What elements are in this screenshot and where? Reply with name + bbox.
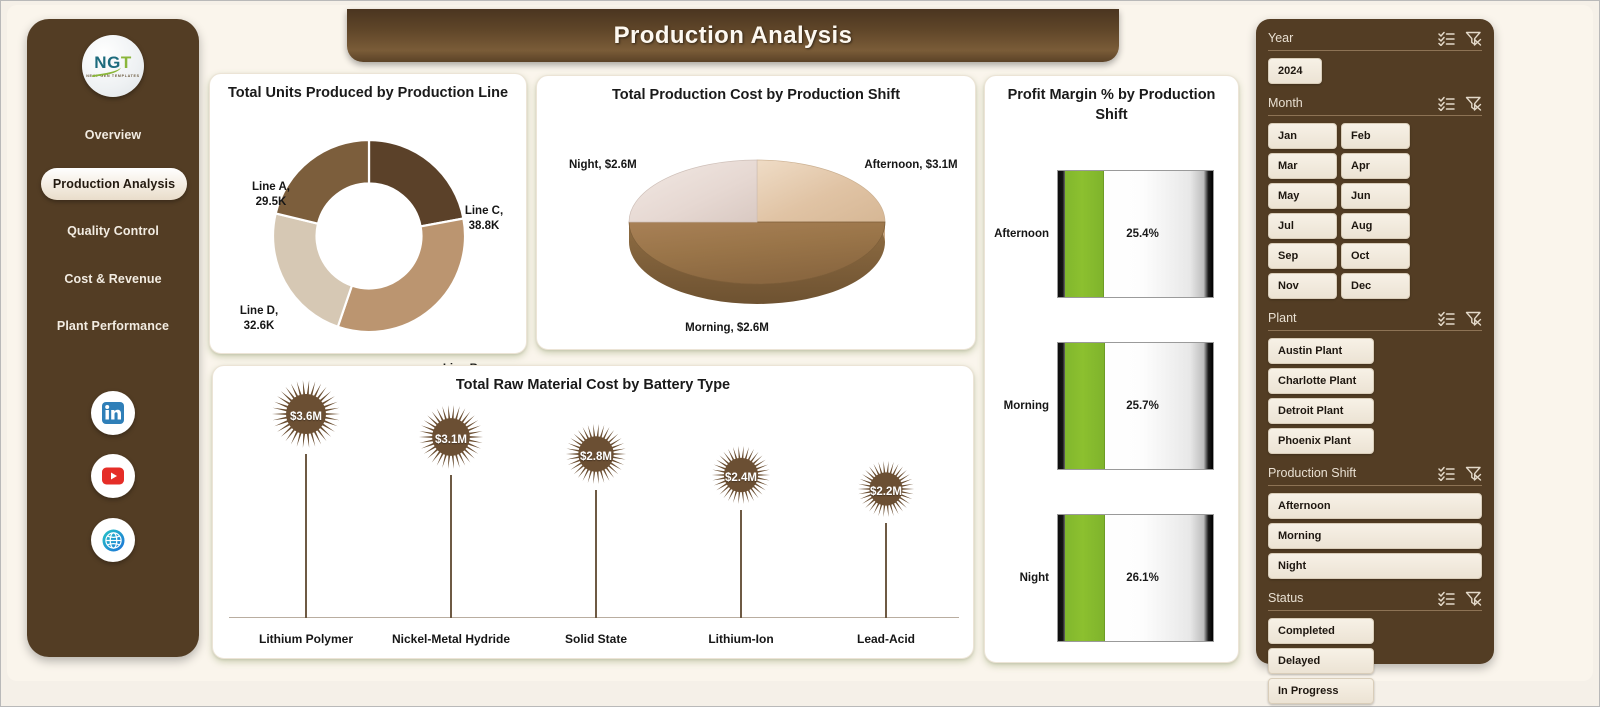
starburst-column-nickel-metal-hydride[interactable]: $3.1M [376,404,526,618]
filter-group-plant: PlantAustin PlantCharlotte PlantDetroit … [1268,309,1482,454]
gauge-fill-afternoon [1065,171,1104,297]
filter-option-production-shift-morning[interactable]: Morning [1268,523,1482,549]
starburst-chart[interactable]: $3.6M $3.1M [213,400,975,658]
multi-select-icon[interactable] [1438,31,1455,46]
filter-option-month-aug[interactable]: Aug [1341,213,1410,239]
starburst-stem-lead-acid [885,523,887,618]
filter-option-month-oct[interactable]: Oct [1341,243,1410,269]
gauge-track-night[interactable]: 26.1% [1057,514,1214,642]
clear-filter-icon[interactable] [1465,96,1482,111]
starburst-value-lead-acid: $2.2M [857,460,915,523]
filter-option-plant-phoenix-plant[interactable]: Phoenix Plant [1268,428,1374,454]
clear-filter-icon[interactable] [1465,466,1482,481]
filter-option-status-delayed[interactable]: Delayed [1268,648,1374,674]
clear-filter-icon[interactable] [1465,591,1482,606]
filter-option-month-dec[interactable]: Dec [1341,273,1410,299]
filter-option-production-shift-afternoon[interactable]: Afternoon [1268,493,1482,519]
filter-group-production-shift: Production ShiftAfternoonMorningNight [1268,464,1482,579]
filter-option-status-in-progress[interactable]: In Progress [1268,678,1374,704]
website-icon[interactable] [91,518,135,562]
filter-option-month-sep[interactable]: Sep [1268,243,1337,269]
filter-option-month-jan[interactable]: Jan [1268,123,1337,149]
card-cost-by-shift: Total Production Cost by Production Shif… [536,75,976,350]
filter-title-year: Year [1268,31,1438,45]
filter-title-status: Status [1268,591,1438,605]
filter-option-plant-austin-plant[interactable]: Austin Plant [1268,338,1374,364]
starburst-marker-lead-acid: $2.2M [857,460,915,523]
youtube-icon[interactable] [91,454,135,498]
filter-items-status: CompletedDelayedIn ProgressOn Hold [1268,618,1482,707]
starburst-category-solid-state: Solid State [521,632,671,646]
card-profit-margin: Profit Margin % by Production Shift Afte… [984,75,1239,663]
card-units-by-line: Total Units Produced by Production Line … [209,73,527,354]
filter-group-month: MonthJanFebMarAprMayJunJulAugSepOctNovDe… [1268,94,1482,299]
starburst-marker-lithium-polymer: $3.6M [271,379,341,454]
starburst-value-nickel-metal-hydride: $3.1M [418,404,484,475]
starburst-column-lead-acid[interactable]: $2.2M [811,460,961,618]
starburst-stem-lithium-polymer [305,454,307,618]
filter-option-month-jun[interactable]: Jun [1341,183,1410,209]
starburst-stem-nickel-metal-hydride [450,475,452,618]
donut-label-line-a: Line A, 29.5K [232,180,310,210]
gauge-label-morning: Morning [985,400,1057,412]
gauge-row-night: Night 26.1% [985,492,1240,664]
starburst-marker-nickel-metal-hydride: $3.1M [418,404,484,475]
starburst-value-lithium-polymer: $3.6M [271,379,341,454]
gauge-label-afternoon: Afternoon [985,228,1057,240]
pie-label-afternoon: Afternoon, $3.1M [855,158,967,174]
gauge-row-morning: Morning 25.7% [985,320,1240,492]
sidebar-item-overview[interactable]: Overview [27,128,199,142]
chart-title-cost-by-shift: Total Production Cost by Production Shif… [537,76,975,106]
clear-filter-icon[interactable] [1465,31,1482,46]
filter-panel: Year2024MonthJanFebMarAprMayJunJulAugSep… [1256,19,1494,664]
sidebar: NGT NEXT GEN TEMPLATES Overview Producti… [27,19,199,657]
filter-icons-year [1438,31,1482,46]
card-raw-material-cost: Total Raw Material Cost by Battery Type … [212,365,974,659]
clear-filter-icon[interactable] [1465,311,1482,326]
sidebar-item-cost-revenue[interactable]: Cost & Revenue [27,272,199,286]
starburst-stem-solid-state [595,490,597,618]
pie-label-night: Night, $2.6M [569,158,689,174]
filter-items-month: JanFebMarAprMayJunJulAugSepOctNovDec [1268,123,1482,299]
starburst-category-nickel-metal-hydride: Nickel-Metal Hydride [376,632,526,646]
filter-option-month-apr[interactable]: Apr [1341,153,1410,179]
donut-label-line-c: Line C, 38.8K [448,204,520,234]
multi-select-icon[interactable] [1438,96,1455,111]
starburst-category-lead-acid: Lead-Acid [811,632,961,646]
gauge-label-night: Night [985,572,1057,584]
filter-header-plant: Plant [1268,309,1482,331]
filter-title-month: Month [1268,96,1438,110]
filter-option-year-2024[interactable]: 2024 [1268,58,1322,84]
gauge-value-night: 26.1% [1126,572,1159,584]
donut-slice-line-b[interactable] [338,219,465,333]
gauge-fill-morning [1065,343,1105,469]
gauge-row-afternoon: Afternoon 25.4% [985,148,1240,320]
starburst-category-lithium-polymer: Lithium Polymer [231,632,381,646]
multi-select-icon[interactable] [1438,466,1455,481]
filter-option-month-may[interactable]: May [1268,183,1337,209]
screenshot-canvas: NGT NEXT GEN TEMPLATES Overview Producti… [0,0,1600,707]
multi-select-icon[interactable] [1438,591,1455,606]
sidebar-item-production-analysis[interactable]: Production Analysis [41,168,187,200]
starburst-column-solid-state[interactable]: $2.8M [521,423,671,618]
filter-header-year: Year [1268,29,1482,51]
pie-chart-3d[interactable]: Night, $2.6M Afternoon, $3.1M Morning, $… [537,116,977,351]
sidebar-item-quality-control[interactable]: Quality Control [27,224,199,238]
brand-logo: NGT NEXT GEN TEMPLATES [82,35,144,97]
chart-title-profit-margin: Profit Margin % by Production Shift [985,76,1238,125]
filter-option-status-completed[interactable]: Completed [1268,618,1374,644]
filter-option-month-feb[interactable]: Feb [1341,123,1410,149]
filter-icons-plant [1438,311,1482,326]
donut-label-line-d: Line D, 32.6K [220,304,298,334]
starburst-column-lithium-ion[interactable]: $2.4M [666,445,816,618]
starburst-value-lithium-ion: $2.4M [711,445,771,510]
starburst-column-lithium-polymer[interactable]: $3.6M [231,379,381,618]
filter-icons-month [1438,96,1482,111]
page-title: Production Analysis [347,9,1119,62]
sidebar-item-plant-performance[interactable]: Plant Performance [27,319,199,333]
filter-header-production-shift: Production Shift [1268,464,1482,486]
multi-select-icon[interactable] [1438,311,1455,326]
filter-title-production-shift: Production Shift [1268,466,1438,480]
starburst-marker-solid-state: $2.8M [565,423,627,490]
filter-header-month: Month [1268,94,1482,116]
gauge-track-morning[interactable]: 25.7% [1057,342,1214,470]
gauge-track-afternoon[interactable]: 25.4% [1057,170,1214,298]
filter-items-plant: Austin PlantCharlotte PlantDetroit Plant… [1268,338,1482,454]
donut-chart[interactable]: Line A, 29.5K Line C, 38.8K Line D, 32.6… [210,122,528,354]
filter-option-month-nov[interactable]: Nov [1268,273,1337,299]
logo-letter-t: T [121,53,132,72]
starburst-category-lithium-ion: Lithium-Ion [666,632,816,646]
filter-group-status: StatusCompletedDelayedIn ProgressOn Hold [1268,589,1482,707]
gauge-value-afternoon: 25.4% [1126,228,1159,240]
filter-option-month-mar[interactable]: Mar [1268,153,1337,179]
filter-icons-production-shift [1438,466,1482,481]
filter-items-year: 2024 [1268,58,1482,84]
filter-icons-status [1438,591,1482,606]
starburst-stem-lithium-ion [740,510,742,618]
pie-label-morning: Morning, $2.6M [647,321,807,337]
report-page: NGT NEXT GEN TEMPLATES Overview Producti… [7,5,1593,681]
starburst-marker-lithium-ion: $2.4M [711,445,771,510]
starburst-value-solid-state: $2.8M [565,423,627,490]
filter-option-plant-detroit-plant[interactable]: Detroit Plant [1268,398,1374,424]
filter-option-month-jul[interactable]: Jul [1268,213,1337,239]
gauge-chart-group: Afternoon 25.4% Morning 25.7% Night 26.1… [985,148,1240,664]
filter-group-year: Year2024 [1268,29,1482,84]
gauge-value-morning: 25.7% [1126,400,1159,412]
filter-option-production-shift-night[interactable]: Night [1268,553,1482,579]
filter-items-production-shift: AfternoonMorningNight [1268,493,1482,579]
filter-option-plant-charlotte-plant[interactable]: Charlotte Plant [1268,368,1374,394]
page-title-text: Production Analysis [614,22,853,50]
linkedin-icon[interactable] [91,391,135,435]
filter-title-plant: Plant [1268,311,1438,325]
chart-title-units-by-line: Total Units Produced by Production Line [210,74,526,104]
filter-header-status: Status [1268,589,1482,611]
gauge-fill-night [1065,515,1105,641]
